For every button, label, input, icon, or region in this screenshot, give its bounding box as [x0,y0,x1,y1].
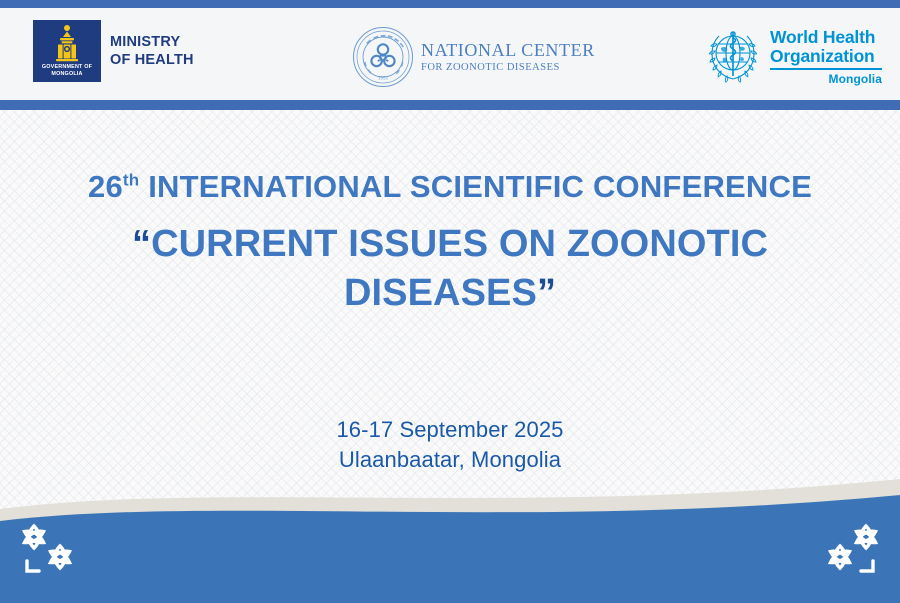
crest-caption: GOVERNMENT OF MONGOLIA [33,64,101,78]
who-wordmark: World Health Organization Mongolia [770,26,882,86]
ornament-right [814,517,886,579]
ministry-name-line1: MINISTRY [110,33,194,51]
closing-quote: ” [537,272,556,314]
triquetra-knot-ornament-icon [814,517,886,579]
crest-caption-line1: GOVERNMENT OF [33,64,101,71]
title-block: 26th INTERNATIONAL SCIENTIFIC CONFERENCE… [0,168,900,318]
ministry-of-health-name: MINISTRY OF HEALTH [110,33,194,69]
crest-caption-line2: MONGOLIA [33,71,101,78]
ornament-left [14,517,86,579]
conference-title-slide: GOVERNMENT OF MONGOLIA MINISTRY OF HEALT… [0,0,900,603]
who-name-line1: World Health [770,28,882,47]
biohazard-seal-icon: 1951 [352,26,414,88]
conference-heading: 26th INTERNATIONAL SCIENTIFIC CONFERENCE [0,168,900,206]
event-meta-block: 16-17 September 2025 Ulaanbaatar, Mongol… [0,415,900,475]
top-accent-bar [0,0,900,8]
conference-ordinal: th [123,171,139,190]
opening-quote: “ [132,223,151,265]
theme-text-line1: CURRENT ISSUES ON ZOONOTIC [151,223,768,265]
government-of-mongolia-crest: GOVERNMENT OF MONGOLIA [33,20,101,82]
ministry-of-health-logo: GOVERNMENT OF MONGOLIA MINISTRY OF HEALT… [33,20,194,82]
conference-number: 26 [88,169,123,204]
national-center-name: NATIONAL CENTER FOR ZOONOTIC DISEASES [421,41,595,73]
ministry-name-line2: OF HEALTH [110,51,194,69]
theme-line-2: DISEASES” [0,269,900,318]
bottom-wave-decoration [0,473,900,603]
seal-year: 1951 [378,76,389,82]
national-center-logo: 1951 NATIONAL CENTER FOR ZOONOTIC DISEAS… [352,26,595,88]
national-center-name-line1: NATIONAL CENTER [421,41,595,60]
conference-label: INTERNATIONAL SCIENTIFIC CONFERENCE [148,169,812,204]
who-name-line2: Organization [770,47,882,66]
who-country-label: Mongolia [770,72,882,86]
who-emblem-icon [704,26,762,84]
who-divider-rule [770,68,882,70]
event-dates: 16-17 September 2025 [0,415,900,445]
triquetra-knot-ornament-icon [14,517,86,579]
conference-theme: “CURRENT ISSUES ON ZOONOTIC DISEASES” [0,220,900,318]
theme-text-line2: DISEASES [344,272,537,314]
national-center-name-line2: FOR ZOONOTIC DISEASES [421,62,595,73]
who-logo: World Health Organization Mongolia [704,26,882,86]
logo-header-band: GOVERNMENT OF MONGOLIA MINISTRY OF HEALT… [0,8,900,100]
header-divider-bar [0,100,900,110]
logo-row: GOVERNMENT OF MONGOLIA MINISTRY OF HEALT… [0,8,900,100]
soyombo-emblem-icon [47,20,87,65]
theme-line-1: “CURRENT ISSUES ON ZOONOTIC [0,220,900,269]
event-location: Ulaanbaatar, Mongolia [0,445,900,475]
